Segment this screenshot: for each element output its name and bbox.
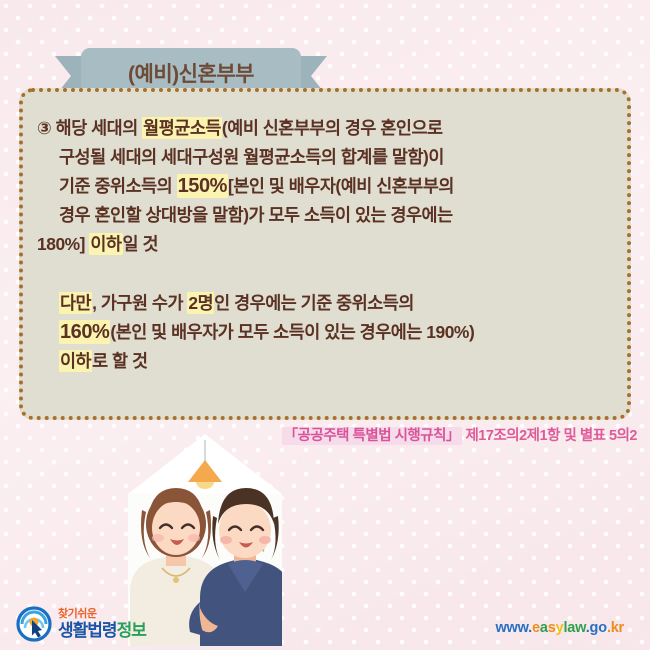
infographic-card: (예비)신혼부부 ③ 해당 세대의 월평균소득(예비 신혼부부의 경우 혼인으로… (0, 0, 650, 650)
paragraph-exception: 다만, 가구원 수가 2명인 경우에는 기준 중위소득의 160%(본인 및 배… (37, 289, 609, 376)
citation-article: 제17조의2제1항 및 별표 5의2 (462, 428, 637, 444)
p2-l3-post: 로 할 것 (92, 351, 147, 371)
p1-l1-post: (예비 신혼부부의 경우 혼인으로 (222, 118, 443, 138)
paragraph1-line3: 기준 중위소득의 150%[본인 및 배우자(예비 신혼부부의 (37, 172, 609, 201)
url-law: law (563, 620, 585, 636)
paragraph2-line2: 160%(본인 및 배우자가 모두 소득이 있는 경우에는 190%) (59, 318, 609, 347)
url-e: e (532, 620, 540, 636)
content-box: ③ 해당 세대의 월평균소득(예비 신혼부부의 경우 혼인으로 구성될 세대의 … (19, 88, 631, 420)
paragraph1-line5: 180%] 이하일 것 (37, 230, 609, 259)
illustration-couple-house (122, 432, 288, 650)
paragraph1-line2: 구성될 세대의 세대구성원 월평균소득의 합계를 말함)이 (37, 143, 609, 172)
highlight-two-persons: 2명 (187, 292, 214, 314)
highlight-monthly-average-income: 월평균소득 (142, 117, 222, 139)
highlight-daman: 다만 (59, 292, 92, 314)
url-a: a (540, 620, 548, 636)
paragraph2-line3: 이하로 할 것 (59, 347, 609, 376)
url-www: www. (495, 620, 532, 636)
logo-name-part2: 정보 (117, 621, 146, 640)
paragraph1-line4: 경우 혼인할 상대방을 말함)가 모두 소득이 있는 경우에는 (37, 201, 609, 230)
p2-l1-mid2: 인 경우에는 기준 중위소득의 (214, 293, 414, 313)
logo-tagline: 찾기쉬운 (58, 609, 146, 620)
p2-l2-post: (본인 및 배우자가 모두 소득이 있는 경우에는 190%) (110, 322, 474, 342)
highlight-iha-2: 이하 (59, 350, 92, 372)
paragraph2-line1: 다만, 가구원 수가 2명인 경우에는 기준 중위소득의 (59, 289, 609, 318)
logo-name: 생활법령정보 (58, 622, 146, 639)
p1-l5-pre: 180%] (37, 234, 89, 254)
paragraph1-line1: ③ 해당 세대의 월평균소득(예비 신혼부부의 경우 혼인으로 (37, 114, 609, 143)
website-url[interactable]: www.easylaw.go.kr (495, 620, 624, 636)
url-kr: .kr (607, 620, 624, 636)
easylaw-logo-icon (16, 606, 52, 642)
highlight-150-percent: 150% (177, 174, 228, 198)
paragraph-item-3: ③ 해당 세대의 월평균소득(예비 신혼부부의 경우 혼인으로 구성될 세대의 … (37, 114, 609, 259)
p1-l3-post: [본인 및 배우자(예비 신혼부부의 (228, 176, 454, 196)
house-illustration-svg (122, 432, 288, 650)
highlight-iha-1: 이하 (89, 233, 122, 255)
legal-citation: 「공공주택 특별법 시행규칙」 제17조의2제1항 및 별표 5의2 (282, 424, 637, 445)
highlight-160-percent: 160% (59, 320, 110, 344)
site-logo[interactable]: 찾기쉬운 생활법령정보 (16, 606, 146, 642)
p1-l1-pre: ③ 해당 세대의 (37, 118, 142, 138)
p1-l3-pre: 기준 중위소득의 (59, 176, 177, 196)
logo-name-part1: 생활법령 (58, 621, 117, 640)
citation-law-name: 「공공주택 특별법 시행규칙」 (282, 427, 462, 445)
url-s: s (548, 620, 556, 636)
url-go: .go (586, 620, 607, 636)
p2-l1-mid1: , 가구원 수가 (92, 293, 187, 313)
logo-text-block: 찾기쉬운 생활법령정보 (58, 609, 146, 639)
p1-l5-post: 일 것 (123, 234, 158, 254)
